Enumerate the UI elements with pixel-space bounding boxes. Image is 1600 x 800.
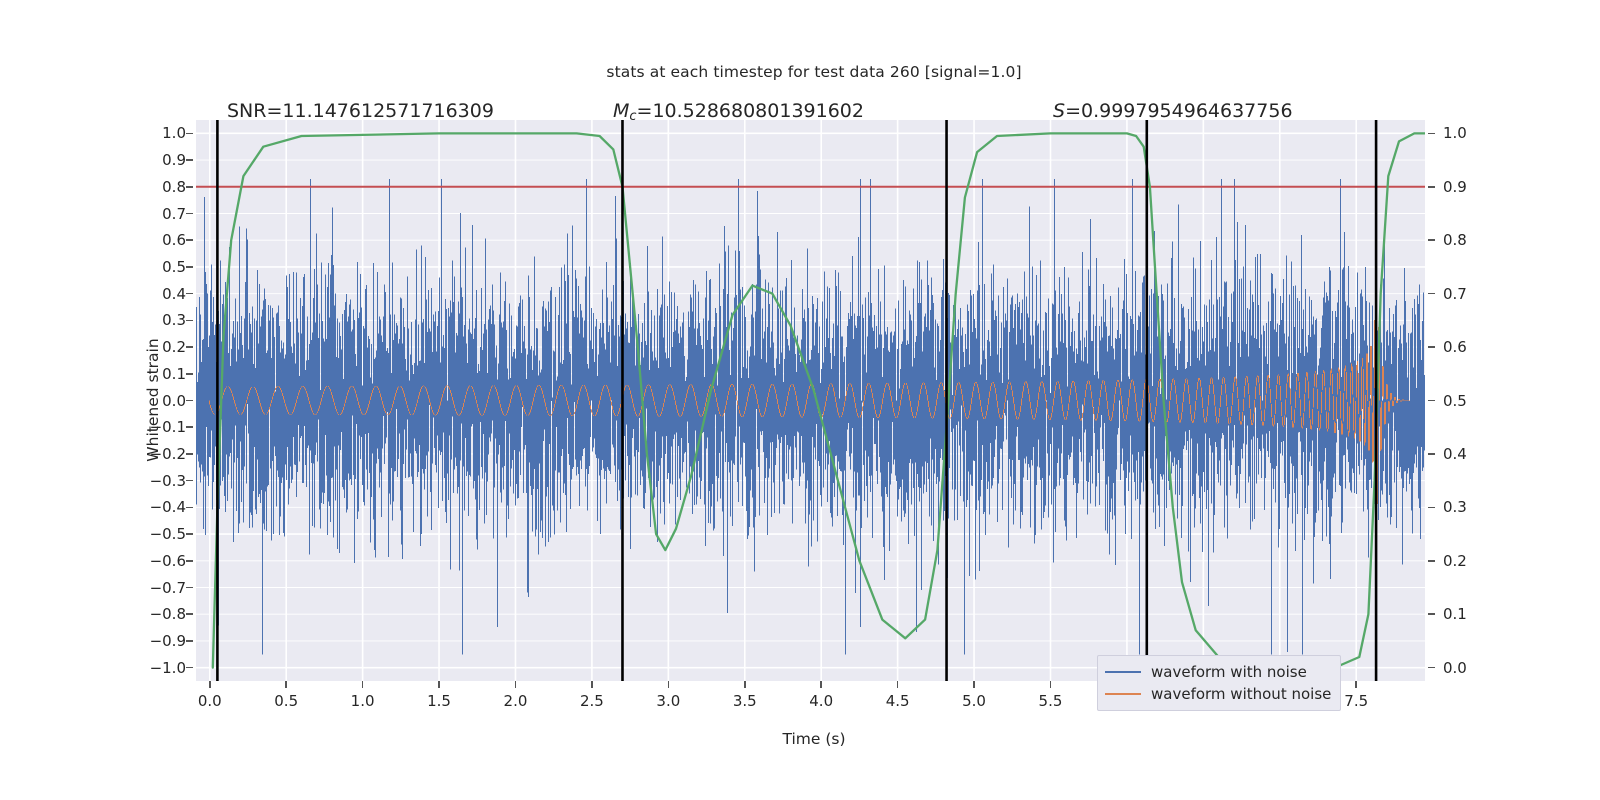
y-tick-mark-left <box>186 239 193 241</box>
legend-label: waveform with noise <box>1151 663 1307 681</box>
figure-canvas: stats at each timestep for test data 260… <box>0 0 1600 800</box>
y-tick-label-right: 0.5 <box>1443 392 1513 410</box>
y-tick-label-left: 0.1 <box>116 365 186 383</box>
x-tick-label: 3.0 <box>656 692 680 710</box>
y-tick-mark-left <box>186 400 193 402</box>
plot-area <box>196 120 1425 681</box>
y-tick-mark-right <box>1428 293 1435 295</box>
y-tick-label-left: −0.9 <box>116 632 186 650</box>
y-tick-mark-right <box>1428 346 1435 348</box>
y-tick-label-right: 1.0 <box>1443 124 1513 142</box>
x-tick-label: 1.0 <box>351 692 375 710</box>
y-tick-mark-right <box>1428 667 1435 669</box>
event-markers <box>196 120 1425 681</box>
y-tick-mark-left <box>186 320 193 322</box>
y-tick-label-left: 0.7 <box>116 205 186 223</box>
y-tick-mark-left <box>186 293 193 295</box>
y-tick-mark-left <box>186 426 193 428</box>
y-tick-mark-left <box>186 560 193 562</box>
x-tick-label: 3.5 <box>733 692 757 710</box>
x-tick-mark <box>820 681 822 688</box>
y-tick-label-left: 0.4 <box>116 285 186 303</box>
y-tick-mark-left <box>186 346 193 348</box>
y-tick-mark-right <box>1428 560 1435 562</box>
y-tick-label-left: −0.2 <box>116 445 186 463</box>
y-tick-mark-left <box>186 373 193 375</box>
legend-swatch-icon <box>1105 671 1141 673</box>
y-tick-label-right: 0.9 <box>1443 178 1513 196</box>
y-tick-mark-left <box>186 480 193 482</box>
annotation-chirp-mass: Mc=10.528680801391602 <box>613 100 864 124</box>
x-tick-label: 4.0 <box>809 692 833 710</box>
y-tick-mark-left <box>186 640 193 642</box>
x-tick-mark <box>973 681 975 688</box>
y-tick-mark-left <box>186 613 193 615</box>
y-tick-mark-left <box>186 533 193 535</box>
chart-title: stats at each timestep for test data 260… <box>0 63 1600 81</box>
x-tick-label: 7.5 <box>1344 692 1368 710</box>
legend-item-0[interactable]: waveform with noise <box>1105 661 1331 683</box>
y-tick-label-left: 0.8 <box>116 178 186 196</box>
y-tick-label-left: −0.5 <box>116 525 186 543</box>
y-tick-label-left: −1.0 <box>116 659 186 677</box>
x-tick-label: 1.5 <box>427 692 451 710</box>
y-tick-label-left: 0.9 <box>116 151 186 169</box>
y-tick-mark-left <box>186 667 193 669</box>
x-tick-label: 5.0 <box>962 692 986 710</box>
y-tick-label-left: 0.0 <box>116 392 186 410</box>
x-tick-mark <box>209 681 211 688</box>
legend-item-1[interactable]: waveform without noise <box>1105 683 1331 705</box>
y-tick-label-left: −0.7 <box>116 579 186 597</box>
y-tick-label-left: 1.0 <box>116 124 186 142</box>
x-tick-mark <box>515 681 517 688</box>
y-tick-label-left: −0.8 <box>116 605 186 623</box>
y-tick-mark-right <box>1428 453 1435 455</box>
y-tick-label-right: 0.2 <box>1443 552 1513 570</box>
y-tick-mark-left <box>186 213 193 215</box>
y-tick-label-left: 0.3 <box>116 311 186 329</box>
y-tick-mark-right <box>1428 239 1435 241</box>
y-tick-mark-left <box>186 453 193 455</box>
x-axis-label: Time (s) <box>0 730 1600 748</box>
y-tick-mark-right <box>1428 613 1435 615</box>
y-tick-mark-left <box>186 186 193 188</box>
x-tick-label: 2.5 <box>580 692 604 710</box>
y-tick-mark-left <box>186 266 193 268</box>
x-tick-label: 0.0 <box>198 692 222 710</box>
y-tick-mark-right <box>1428 400 1435 402</box>
y-tick-label-left: 0.2 <box>116 338 186 356</box>
x-tick-label: 5.5 <box>1039 692 1063 710</box>
x-tick-mark <box>897 681 899 688</box>
x-tick-mark <box>438 681 440 688</box>
y-tick-mark-left <box>186 133 193 135</box>
y-tick-label-left: −0.1 <box>116 418 186 436</box>
legend-label: waveform without noise <box>1151 685 1331 703</box>
y-tick-mark-right <box>1428 186 1435 188</box>
legend: waveform with noisewaveform without nois… <box>1097 655 1341 711</box>
y-tick-label-left: −0.3 <box>116 472 186 490</box>
y-tick-label-right: 0.7 <box>1443 285 1513 303</box>
x-tick-mark <box>1050 681 1052 688</box>
y-tick-label-right: 0.3 <box>1443 498 1513 516</box>
x-tick-mark <box>1355 681 1357 688</box>
y-tick-label-right: 0.1 <box>1443 605 1513 623</box>
y-tick-mark-left <box>186 587 193 589</box>
x-tick-mark <box>362 681 364 688</box>
y-tick-label-left: 0.5 <box>116 258 186 276</box>
x-tick-label: 2.0 <box>504 692 528 710</box>
annotation-score: S=0.9997954964637756 <box>1053 100 1293 122</box>
y-tick-label-right: 0.4 <box>1443 445 1513 463</box>
x-tick-mark <box>744 681 746 688</box>
x-tick-label: 0.5 <box>274 692 298 710</box>
y-tick-label-right: 0.0 <box>1443 659 1513 677</box>
legend-swatch-icon <box>1105 693 1141 695</box>
y-tick-label-right: 0.8 <box>1443 231 1513 249</box>
x-tick-mark <box>591 681 593 688</box>
annotation-snr: SNR=11.147612571716309 <box>227 100 494 122</box>
y-tick-label-left: −0.6 <box>116 552 186 570</box>
y-tick-mark-right <box>1428 507 1435 509</box>
x-tick-label: 4.5 <box>886 692 910 710</box>
y-tick-mark-left <box>186 159 193 161</box>
x-tick-mark <box>285 681 287 688</box>
y-tick-mark-left <box>186 507 193 509</box>
y-tick-label-left: 0.6 <box>116 231 186 249</box>
y-tick-label-left: −0.4 <box>116 498 186 516</box>
x-tick-mark <box>668 681 670 688</box>
y-tick-label-right: 0.6 <box>1443 338 1513 356</box>
y-tick-mark-right <box>1428 133 1435 135</box>
